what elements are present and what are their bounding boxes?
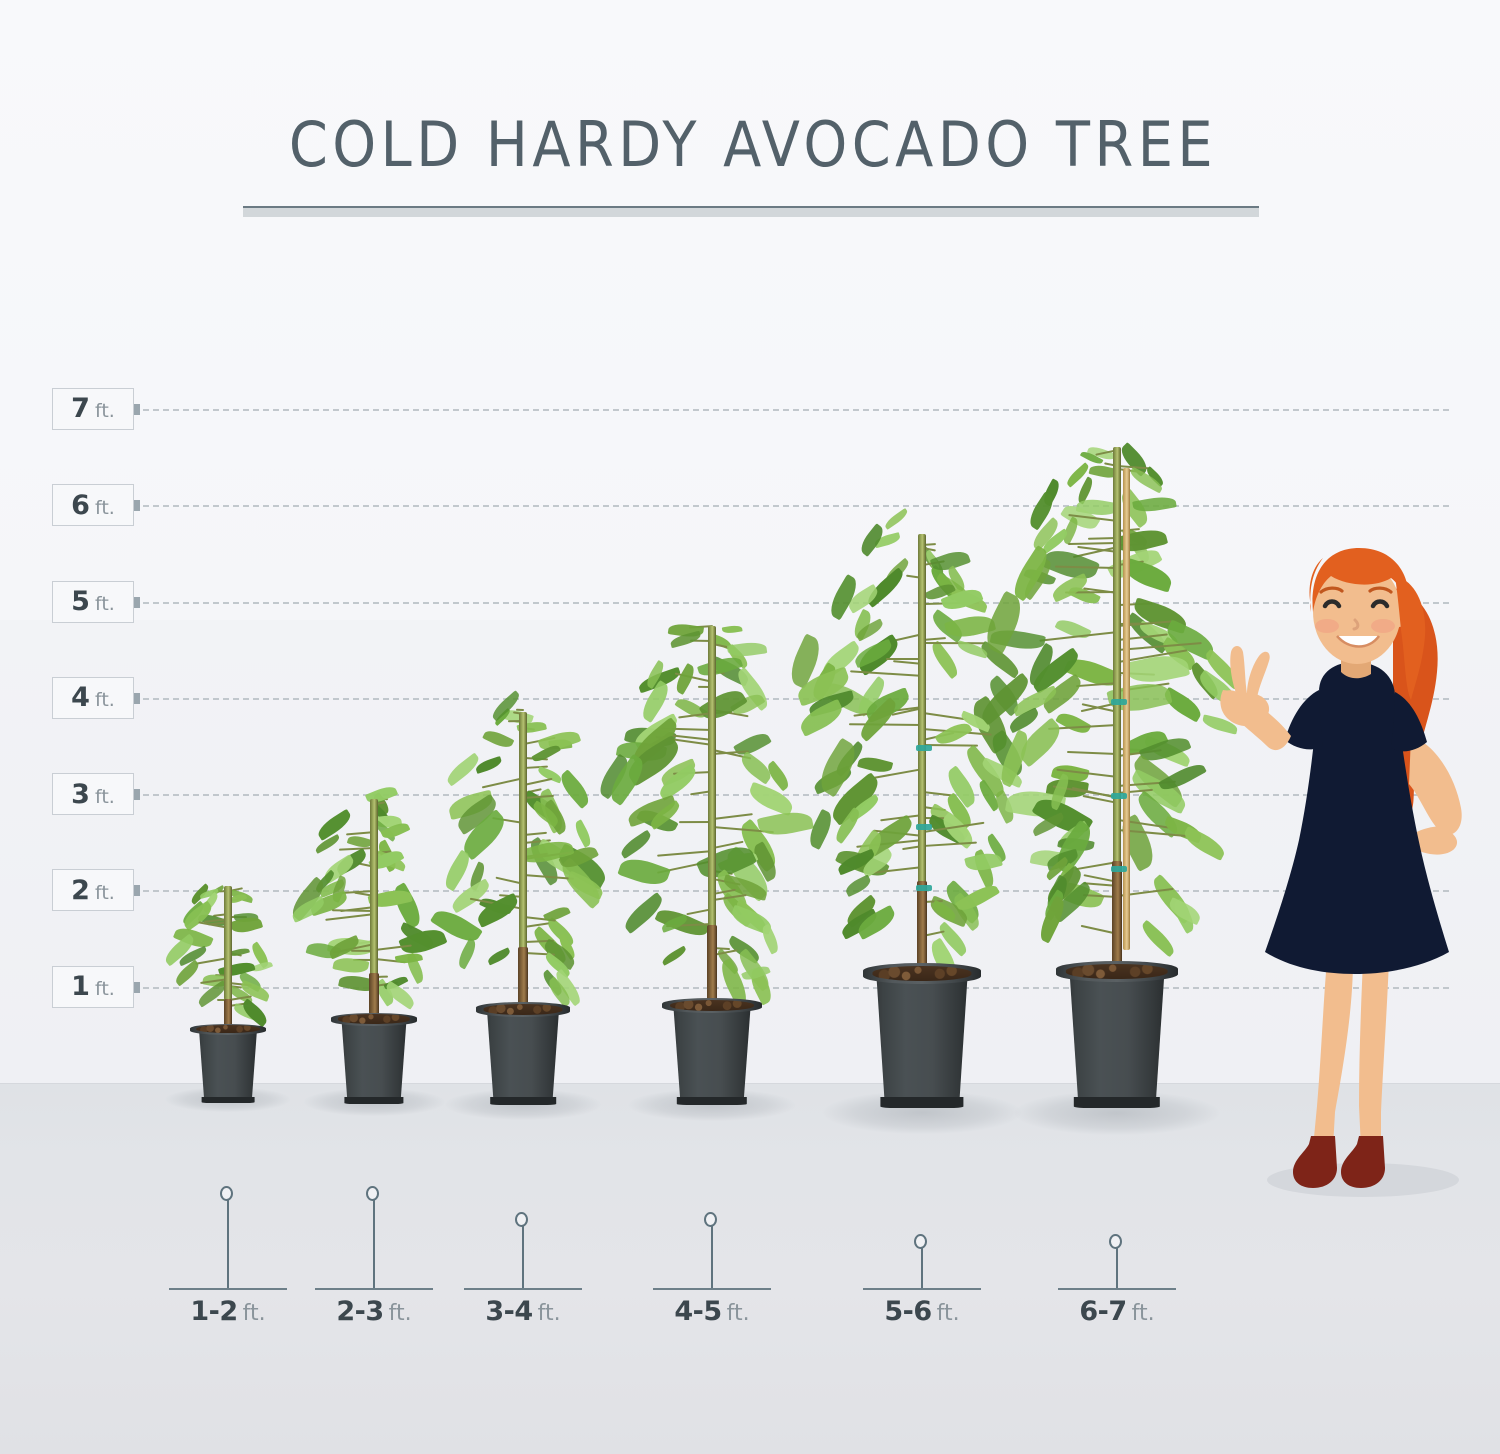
pot-feet [1074, 1097, 1160, 1108]
pointer-baseline-3 [464, 1288, 582, 1290]
woman-figure [1215, 540, 1475, 1200]
pot-soil [1066, 964, 1168, 979]
pointer-circle-2 [366, 1186, 379, 1201]
pointer-circle-3 [515, 1212, 528, 1227]
x-axis-label-3: 3-4ft. [428, 1296, 618, 1327]
woman-illustration [1215, 540, 1475, 1200]
x-axis-range: 5-6 [884, 1296, 931, 1327]
support-stake [1123, 468, 1130, 950]
peace-sign-hand [1220, 646, 1269, 726]
left-leg [1313, 960, 1353, 1148]
pointer-stem-3 [522, 1226, 524, 1288]
blush-left [1315, 619, 1339, 633]
pointer-stem-2 [373, 1200, 375, 1288]
x-axis-range: 2-3 [336, 1296, 383, 1327]
branch [1067, 751, 1118, 755]
x-axis-range: 4-5 [674, 1296, 721, 1327]
plant-tie [1111, 699, 1127, 705]
x-axis-label-6: 6-7ft. [1022, 1296, 1212, 1327]
branch [1068, 542, 1118, 545]
pointer-stem-4 [711, 1226, 713, 1288]
right-arm [1409, 736, 1462, 835]
left-shoe [1293, 1136, 1337, 1188]
x-axis-unit: ft. [389, 1301, 412, 1326]
x-axis-unit: ft. [937, 1301, 960, 1326]
pointer-baseline-5 [863, 1288, 981, 1290]
pointer-circle-6 [1109, 1234, 1122, 1249]
x-axis-unit: ft. [243, 1301, 266, 1326]
pointer-stem-6 [1116, 1248, 1118, 1288]
pointer-baseline-6 [1058, 1288, 1176, 1290]
leaf [1138, 919, 1179, 957]
pointer-circle-4 [704, 1212, 717, 1227]
leaf [1056, 709, 1092, 738]
x-axis-label-4: 4-5ft. [617, 1296, 807, 1327]
right-shoe [1341, 1136, 1385, 1188]
x-axis-unit: ft. [538, 1301, 561, 1326]
trunk-upper [1113, 447, 1122, 866]
pointer-stem-5 [921, 1248, 923, 1288]
pointer-circle-1 [220, 1186, 233, 1201]
pointer-baseline-4 [653, 1288, 771, 1290]
x-axis-range: 1-2 [190, 1296, 237, 1327]
left-sleeve [1285, 690, 1323, 749]
plant-tie [1111, 866, 1127, 872]
plant-tie [1111, 793, 1127, 799]
right-leg [1359, 960, 1389, 1148]
x-axis-range: 3-4 [485, 1296, 532, 1327]
pointer-circle-5 [914, 1234, 927, 1249]
x-axis-label-5: 5-6ft. [827, 1296, 1017, 1327]
pointer-baseline-1 [169, 1288, 287, 1290]
x-axis-range: 6-7 [1079, 1296, 1126, 1327]
x-axis-unit: ft. [727, 1301, 750, 1326]
trunk-lower [1112, 861, 1123, 976]
x-axis-unit: ft. [1132, 1301, 1155, 1326]
pointer-stem-1 [227, 1200, 229, 1288]
pointer-baseline-2 [315, 1288, 433, 1290]
nursery-pot [1063, 971, 1171, 1101]
infographic-canvas: COLD HARDY AVOCADO TREE 7ft.6ft.5ft.4ft.… [0, 0, 1500, 1454]
blush-right [1371, 619, 1395, 633]
